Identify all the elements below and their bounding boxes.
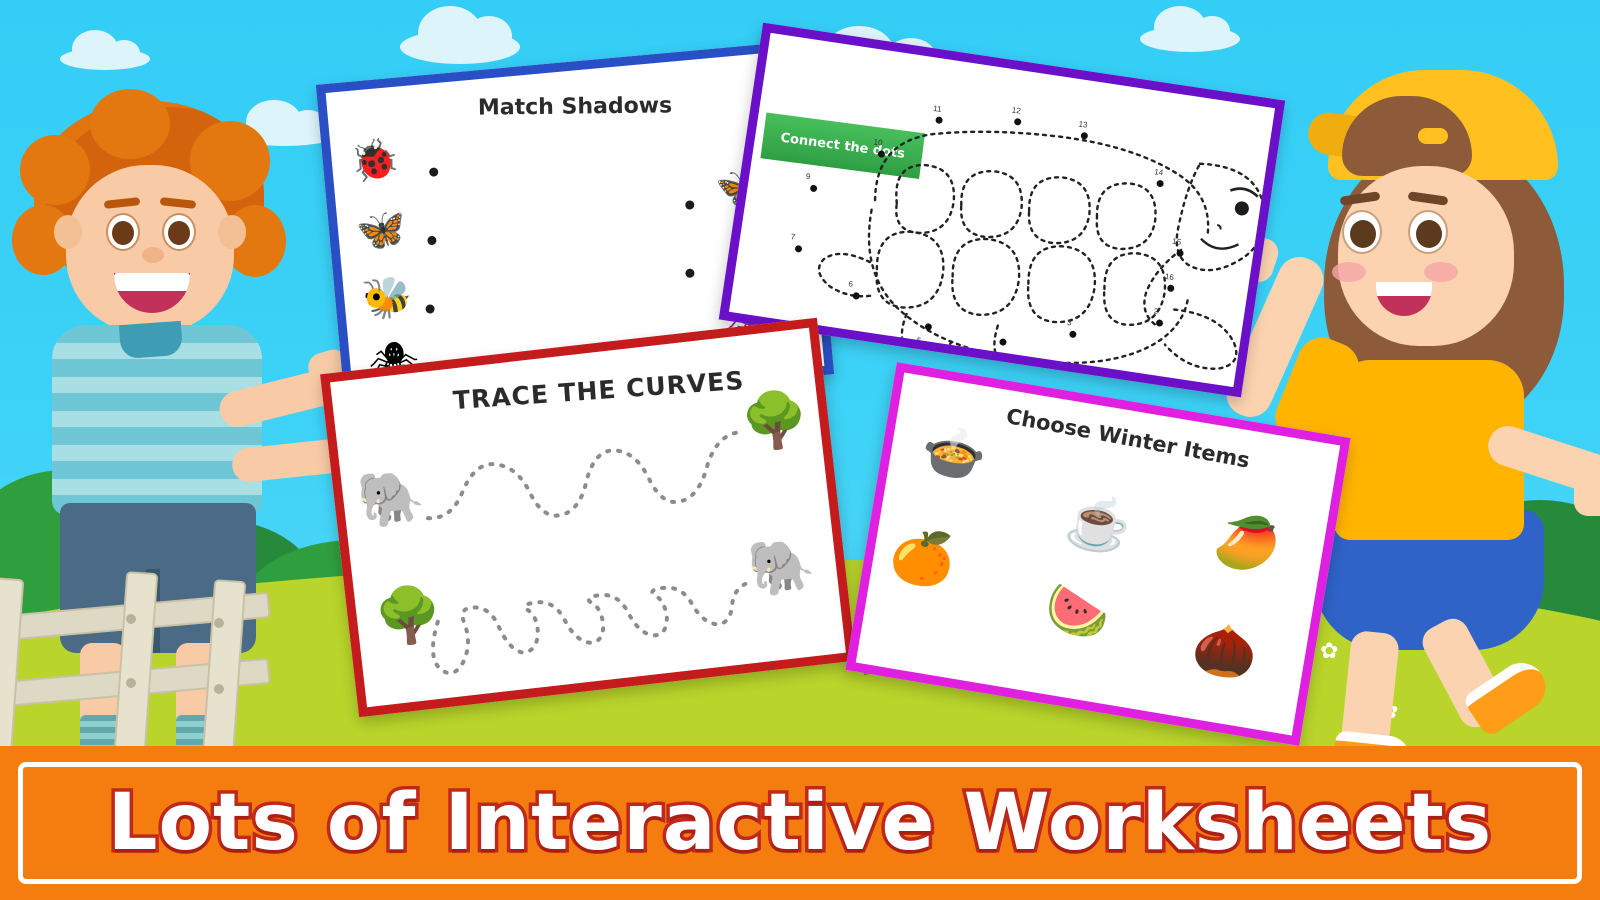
worksheet-sheet: Choose Winter Items 🍲 ☕ 🍊 🍉 🥭 🌰 xyxy=(856,373,1340,736)
boy-hair-curl xyxy=(90,89,170,159)
cloud-icon xyxy=(60,48,150,70)
bee-icon: 🐝 xyxy=(361,276,414,320)
cloud-icon xyxy=(1140,26,1240,52)
boy-ear xyxy=(218,215,246,249)
orange-icon[interactable]: 🍊 xyxy=(886,527,958,589)
dot-number: 4 xyxy=(991,351,997,361)
dot-number: 15 xyxy=(1172,237,1182,247)
match-dot[interactable] xyxy=(685,268,695,278)
worksheet-card-trace-curves[interactable]: TRACE THE CURVES 🐘 🌳 🌳 🐘 xyxy=(320,318,856,717)
fence-nail-icon xyxy=(126,678,136,688)
fence-post xyxy=(114,571,158,753)
girl-hair-scrunchie xyxy=(1418,128,1448,144)
trace-paths xyxy=(330,328,846,707)
loop-trace-path xyxy=(429,576,758,675)
fence-post xyxy=(0,577,24,759)
girl-character xyxy=(1290,70,1600,770)
dot-number: 16 xyxy=(1164,272,1174,282)
wooden-fence xyxy=(0,578,270,758)
dot-number: 11 xyxy=(933,104,943,114)
butterfly-icon: 🦋 xyxy=(355,208,408,252)
girl-pupil xyxy=(1416,220,1442,248)
girl-pupil xyxy=(1350,220,1376,248)
worksheet-title: Choose Winter Items xyxy=(1004,404,1251,473)
dot-number: 13 xyxy=(1078,119,1088,129)
worksheet-sheet: TRACE THE CURVES 🐘 🌳 🌳 🐘 xyxy=(330,328,846,707)
match-dot[interactable] xyxy=(427,236,437,246)
dot-number: 12 xyxy=(1011,105,1021,115)
hot-coffee-icon[interactable]: ☕ xyxy=(1062,494,1134,556)
cloud-icon xyxy=(400,30,520,64)
ladybug-icon: 🐞 xyxy=(348,139,401,183)
nuts-icon[interactable]: 🌰 xyxy=(1189,620,1261,682)
worksheet-title: Match Shadows xyxy=(478,93,673,120)
mango-icon[interactable]: 🥭 xyxy=(1211,512,1283,574)
dot-number: 14 xyxy=(1154,167,1164,177)
bottom-banner: Lots of Interactive Worksheets xyxy=(0,746,1600,900)
boy-ear xyxy=(54,215,82,249)
match-dot[interactable] xyxy=(685,200,695,210)
boy-teeth xyxy=(114,273,190,291)
watermelon-icon[interactable]: 🍉 xyxy=(1041,581,1113,643)
boy-pupil xyxy=(112,221,134,245)
banner-title: Lots of Interactive Worksheets xyxy=(0,778,1600,868)
fence-nail-icon xyxy=(126,614,136,624)
match-dot[interactable] xyxy=(425,304,435,314)
boy-collar xyxy=(119,321,183,359)
fence-nail-icon xyxy=(214,684,224,694)
match-dot[interactable] xyxy=(429,167,439,177)
boy-nose xyxy=(142,247,164,263)
boy-hair-curl xyxy=(20,135,90,205)
fence-nail-icon xyxy=(214,618,224,628)
girl-hand xyxy=(1574,472,1600,516)
girl-blush xyxy=(1332,262,1366,282)
boy-pupil xyxy=(168,221,190,245)
dot-number: 10 xyxy=(873,137,883,147)
dot-number: 5 xyxy=(916,336,922,346)
soup-bowl-icon[interactable]: 🍲 xyxy=(918,423,990,485)
girl-teeth xyxy=(1376,282,1432,296)
wave-trace-path xyxy=(422,432,749,530)
girl-blush xyxy=(1424,262,1458,282)
